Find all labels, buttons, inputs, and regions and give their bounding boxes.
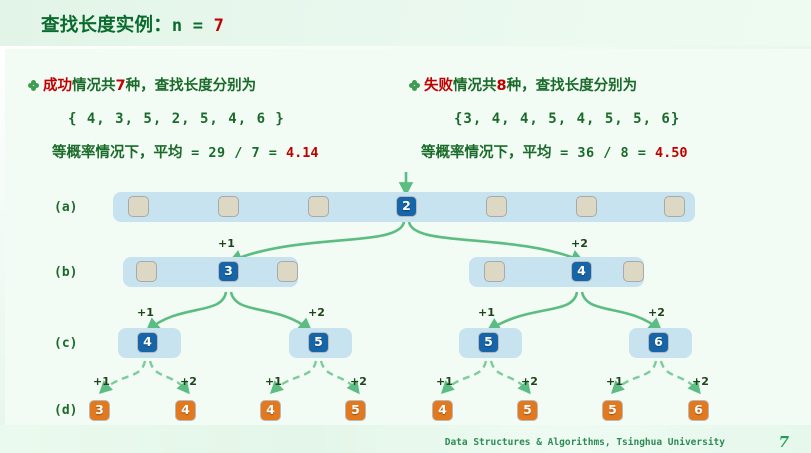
row-a-empty-cell: [128, 196, 149, 217]
row-c-node-4: 4: [137, 332, 158, 353]
row-b-node-4: 4: [571, 261, 592, 282]
edge-weight-label: +1: [137, 306, 154, 319]
row-b-empty-cell: [484, 261, 505, 282]
row-d-node-5: 5: [345, 400, 366, 421]
row-b-node-3: 3: [218, 261, 239, 282]
row-d-node-4: 4: [260, 400, 281, 421]
row-d-node-3: 3: [89, 400, 110, 421]
edge-weight-label: +2: [308, 306, 325, 319]
row-a-empty-cell: [308, 196, 329, 217]
edge-weight-label: +1: [218, 237, 235, 250]
edge-weight-label: +2: [692, 375, 709, 388]
row-a-empty-cell: [576, 196, 597, 217]
edge-weight-label: +1: [478, 306, 495, 319]
row-a-empty-cell: [218, 196, 239, 217]
edge-weight-label: +2: [521, 375, 538, 388]
row-label-c: (c): [54, 336, 77, 351]
edge-weight-label: +2: [571, 237, 588, 250]
row-d-node-4: 4: [175, 400, 196, 421]
row-c-node-5: 5: [478, 332, 499, 353]
row-b-empty-cell: [136, 261, 157, 282]
row-a-empty-cell: [664, 196, 685, 217]
edge-weight-label: +1: [93, 375, 110, 388]
edge-weight-label: +1: [436, 375, 453, 388]
edge-weight-label: +1: [606, 375, 623, 388]
row-d-node-5: 5: [602, 400, 623, 421]
row-label-b: (b): [54, 265, 77, 280]
row-c-node-6: 6: [648, 332, 669, 353]
row-c-node-5: 5: [308, 332, 329, 353]
row-label-d: (d): [54, 403, 77, 418]
edge-weight-label: +2: [648, 306, 665, 319]
edge-weight-label: +1: [265, 375, 282, 388]
page-number: 7: [779, 433, 789, 451]
footer-credit: Data Structures & Algorithms, Tsinghua U…: [445, 437, 725, 448]
row-b-empty-cell: [623, 261, 644, 282]
slide-canvas: 查找长度实例：n = 7 成功情况共7种，查找长度分别为 { 4, 3, 5, …: [0, 0, 811, 453]
row-d-node-5: 5: [517, 400, 538, 421]
edge-weight-label: +2: [180, 375, 197, 388]
row-d-node-4: 4: [432, 400, 453, 421]
row-d-node-6: 6: [688, 400, 709, 421]
edge-weight-label: +2: [350, 375, 367, 388]
tree-arrows-layer: [0, 0, 811, 453]
row-b-empty-cell: [277, 261, 298, 282]
row-label-a: (a): [54, 200, 77, 215]
row-a-node-2: 2: [396, 196, 417, 217]
row-a-empty-cell: [486, 196, 507, 217]
